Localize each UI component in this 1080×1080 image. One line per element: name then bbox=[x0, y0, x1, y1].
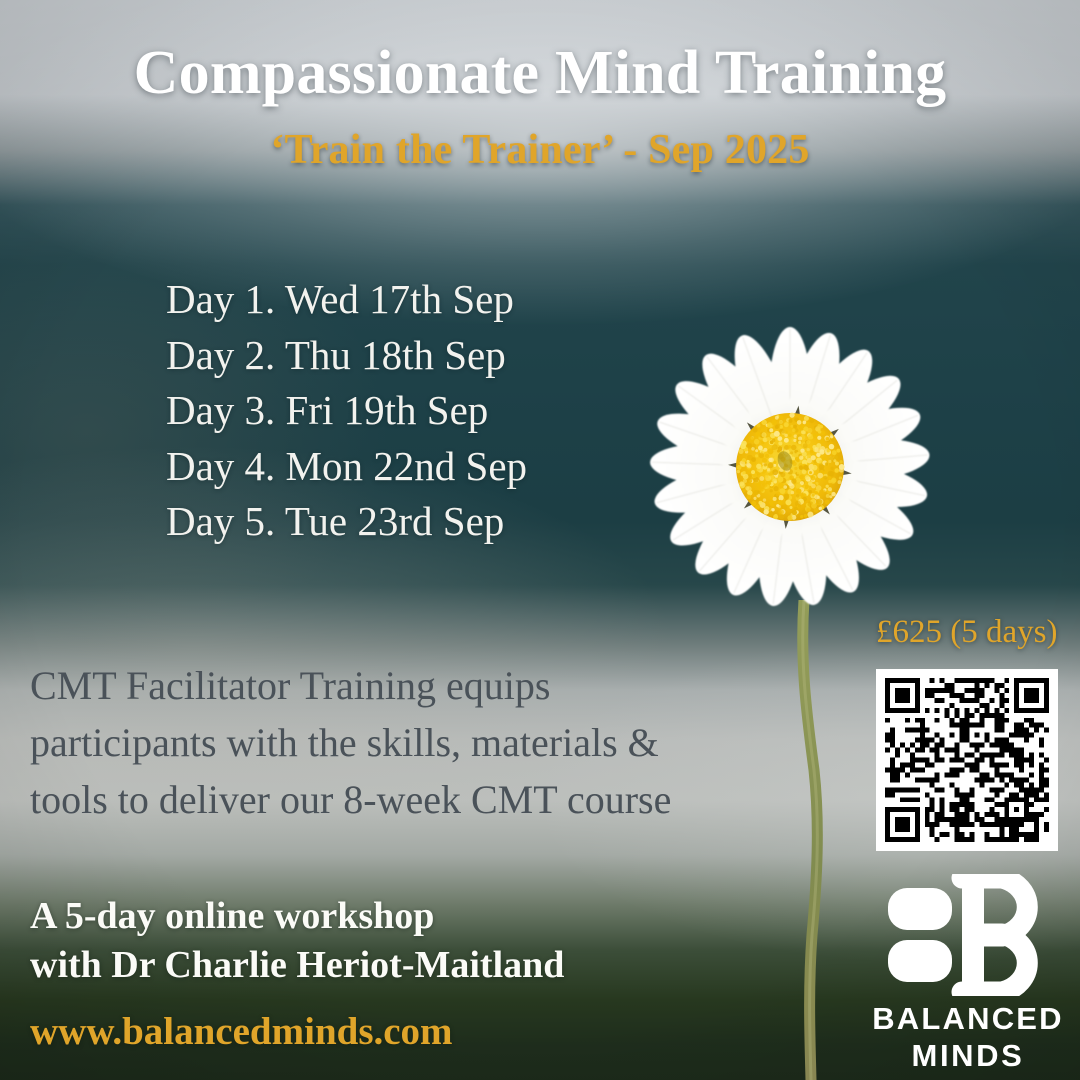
list-item: Day 1. Wed 17th Sep bbox=[166, 272, 527, 328]
workshop-line: A 5-day online workshop bbox=[30, 892, 564, 941]
description-line: tools to deliver our 8-week CMT course bbox=[30, 771, 840, 828]
white-daisy-flower bbox=[619, 299, 961, 641]
workshop-line: with Dr Charlie Heriot-Maitland bbox=[30, 941, 564, 990]
page-subtitle: ‘Train the Trainer’ - Sep 2025 bbox=[0, 126, 1080, 174]
list-item: Day 5. Tue 23rd Sep bbox=[166, 494, 527, 550]
balanced-minds-logo-mark bbox=[884, 874, 1056, 996]
price-label: £625 (5 days) bbox=[876, 614, 1057, 651]
poster-canvas: Compassionate Mind Training ‘Train the T… bbox=[0, 0, 1080, 1080]
list-item: Day 3. Fri 19th Sep bbox=[166, 383, 527, 439]
workshop-details: A 5-day online workshop with Dr Charlie … bbox=[30, 892, 564, 990]
list-item: Day 4. Mon 22nd Sep bbox=[166, 439, 527, 495]
website-url[interactable]: www.balancedminds.com bbox=[30, 1009, 453, 1054]
list-item: Day 2. Thu 18th Sep bbox=[166, 328, 527, 384]
page-title: Compassionate Mind Training bbox=[0, 38, 1080, 109]
description-line: participants with the skills, materials … bbox=[30, 714, 840, 771]
description-line: CMT Facilitator Training equips bbox=[30, 657, 840, 714]
description-text: CMT Facilitator Training equips particip… bbox=[30, 657, 840, 828]
logo-wordmark: BALANCED MINDS bbox=[856, 1000, 1080, 1074]
logo-name-line-1: BALANCED bbox=[856, 1000, 1080, 1037]
qr-code-image bbox=[885, 678, 1049, 842]
logo-name-line-2: MINDS bbox=[856, 1037, 1080, 1074]
schedule-list: Day 1. Wed 17th Sep Day 2. Thu 18th Sep … bbox=[166, 272, 527, 550]
qr-code[interactable] bbox=[876, 669, 1058, 851]
